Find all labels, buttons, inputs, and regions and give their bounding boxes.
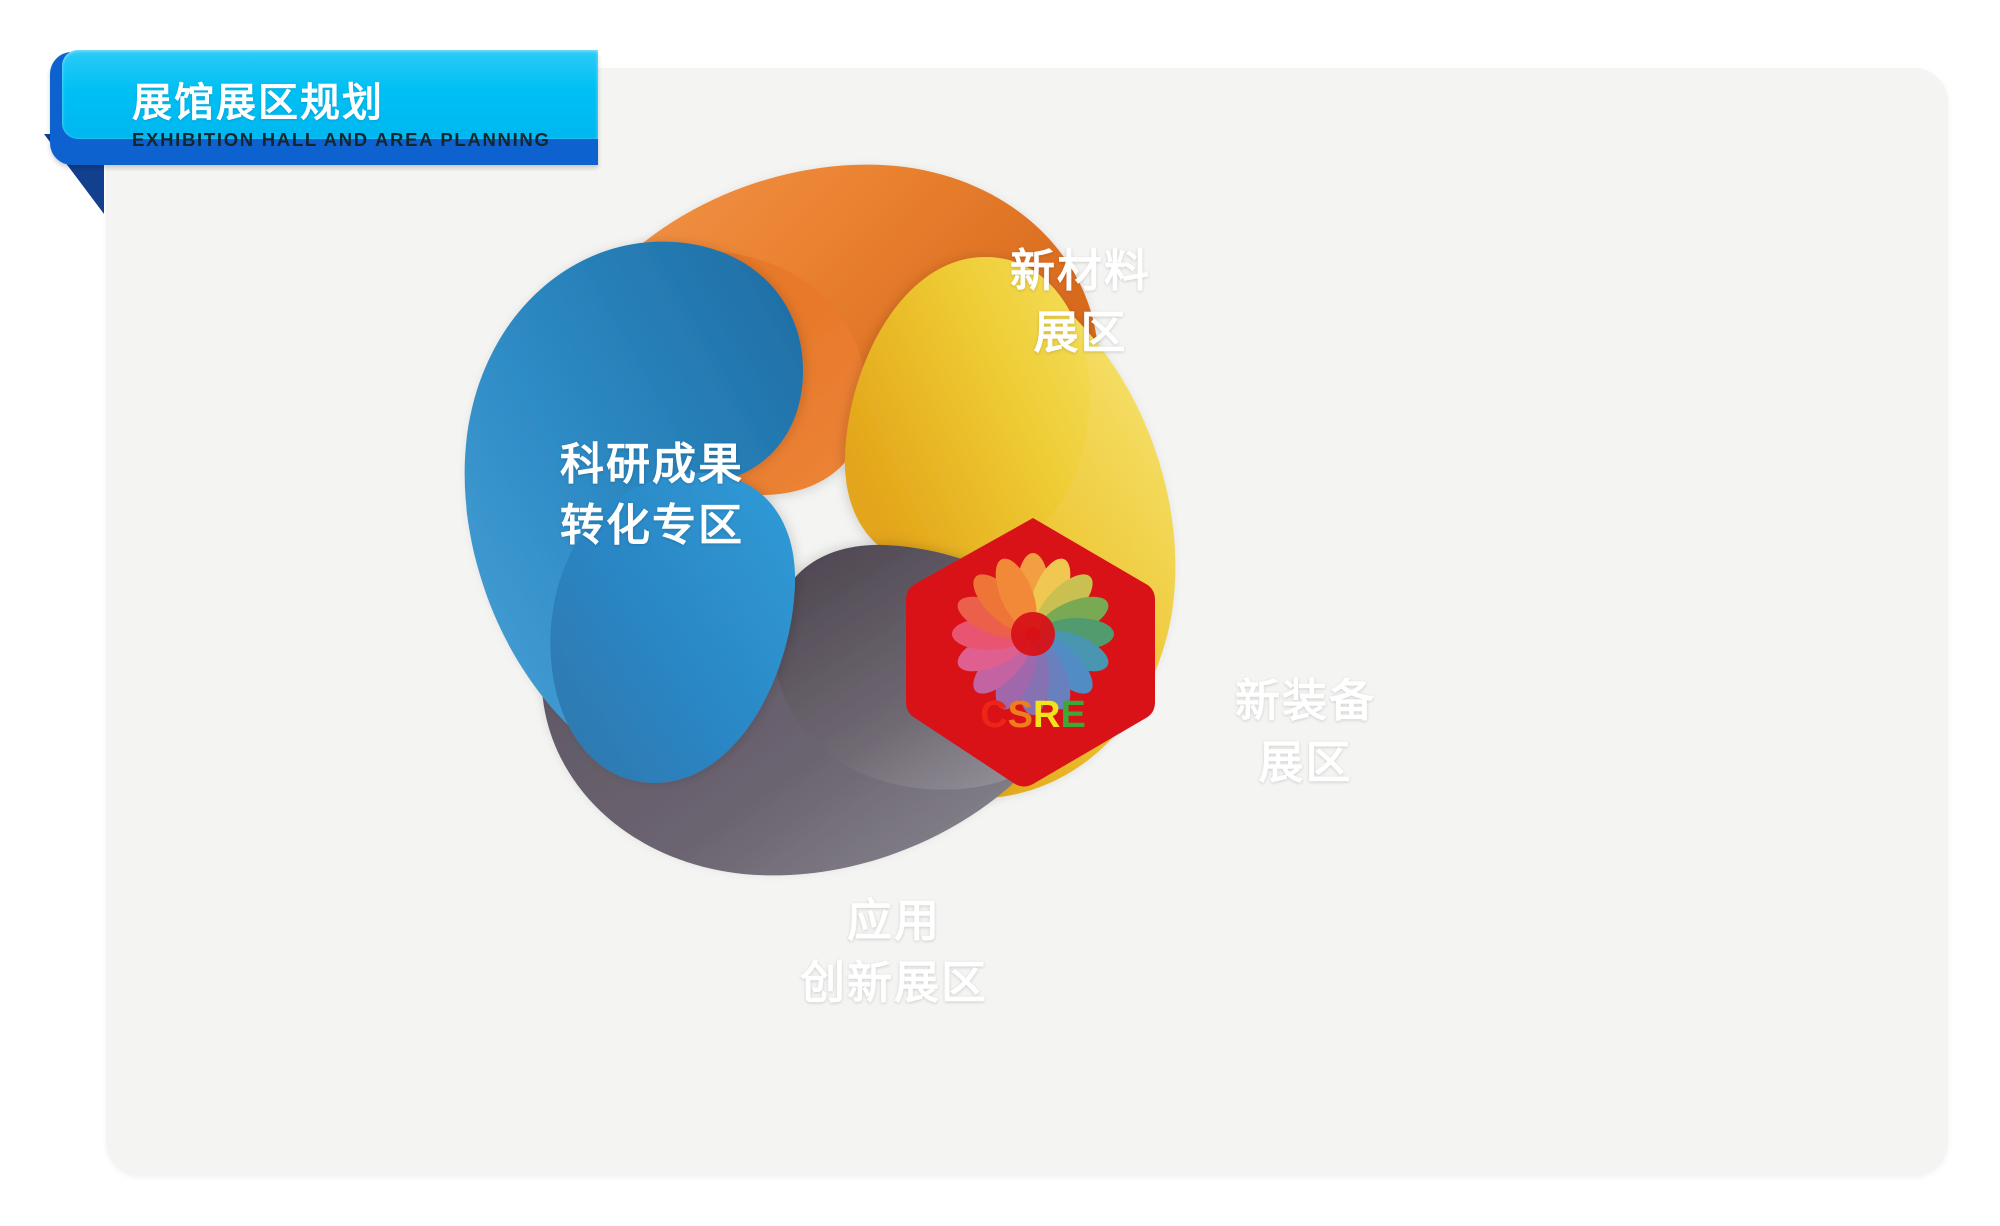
petal-label-line2: 展区 — [1235, 732, 1376, 794]
csre-logo[interactable]: CSRE — [903, 512, 1163, 790]
flower-rosette-icon — [952, 553, 1114, 715]
petal-label-line1: 科研成果 — [560, 440, 744, 489]
title-banner: 展馆展区规划 EXHIBITION HALL AND AREA PLANNING — [38, 38, 568, 188]
logo-letter-c: C — [980, 696, 1007, 734]
page-title: 展馆展区规划 — [132, 82, 551, 125]
banner-text-group: 展馆展区规划 EXHIBITION HALL AND AREA PLANNING — [132, 82, 551, 151]
logo-letter-e: E — [1060, 696, 1085, 734]
petal-label-line2: 创新展区 — [800, 952, 988, 1014]
petal-label-application-innovation: 应用 创新展区 — [800, 890, 988, 1014]
petal-label-line2: 展区 — [1010, 302, 1151, 364]
logo-letter-s: S — [1008, 696, 1033, 734]
petal-label-research-transformation: 科研成果 转化专区 — [560, 435, 744, 556]
petal-label-new-equipment: 新装备 展区 — [1235, 670, 1376, 794]
petal-label-line1: 应用 — [847, 895, 941, 946]
petal-label-line2: 转化专区 — [560, 496, 744, 557]
petal-label-line1: 新材料 — [1010, 245, 1151, 296]
csre-wordmark: CSRE — [903, 696, 1163, 734]
page-subtitle: EXHIBITION HALL AND AREA PLANNING — [132, 130, 551, 150]
slide-canvas: 展馆展区规划 EXHIBITION HALL AND AREA PLANNING — [0, 0, 2000, 1226]
logo-letter-r: R — [1033, 696, 1060, 734]
petal-label-line1: 新装备 — [1235, 675, 1376, 726]
petal-label-new-materials: 新材料 展区 — [1010, 240, 1151, 364]
